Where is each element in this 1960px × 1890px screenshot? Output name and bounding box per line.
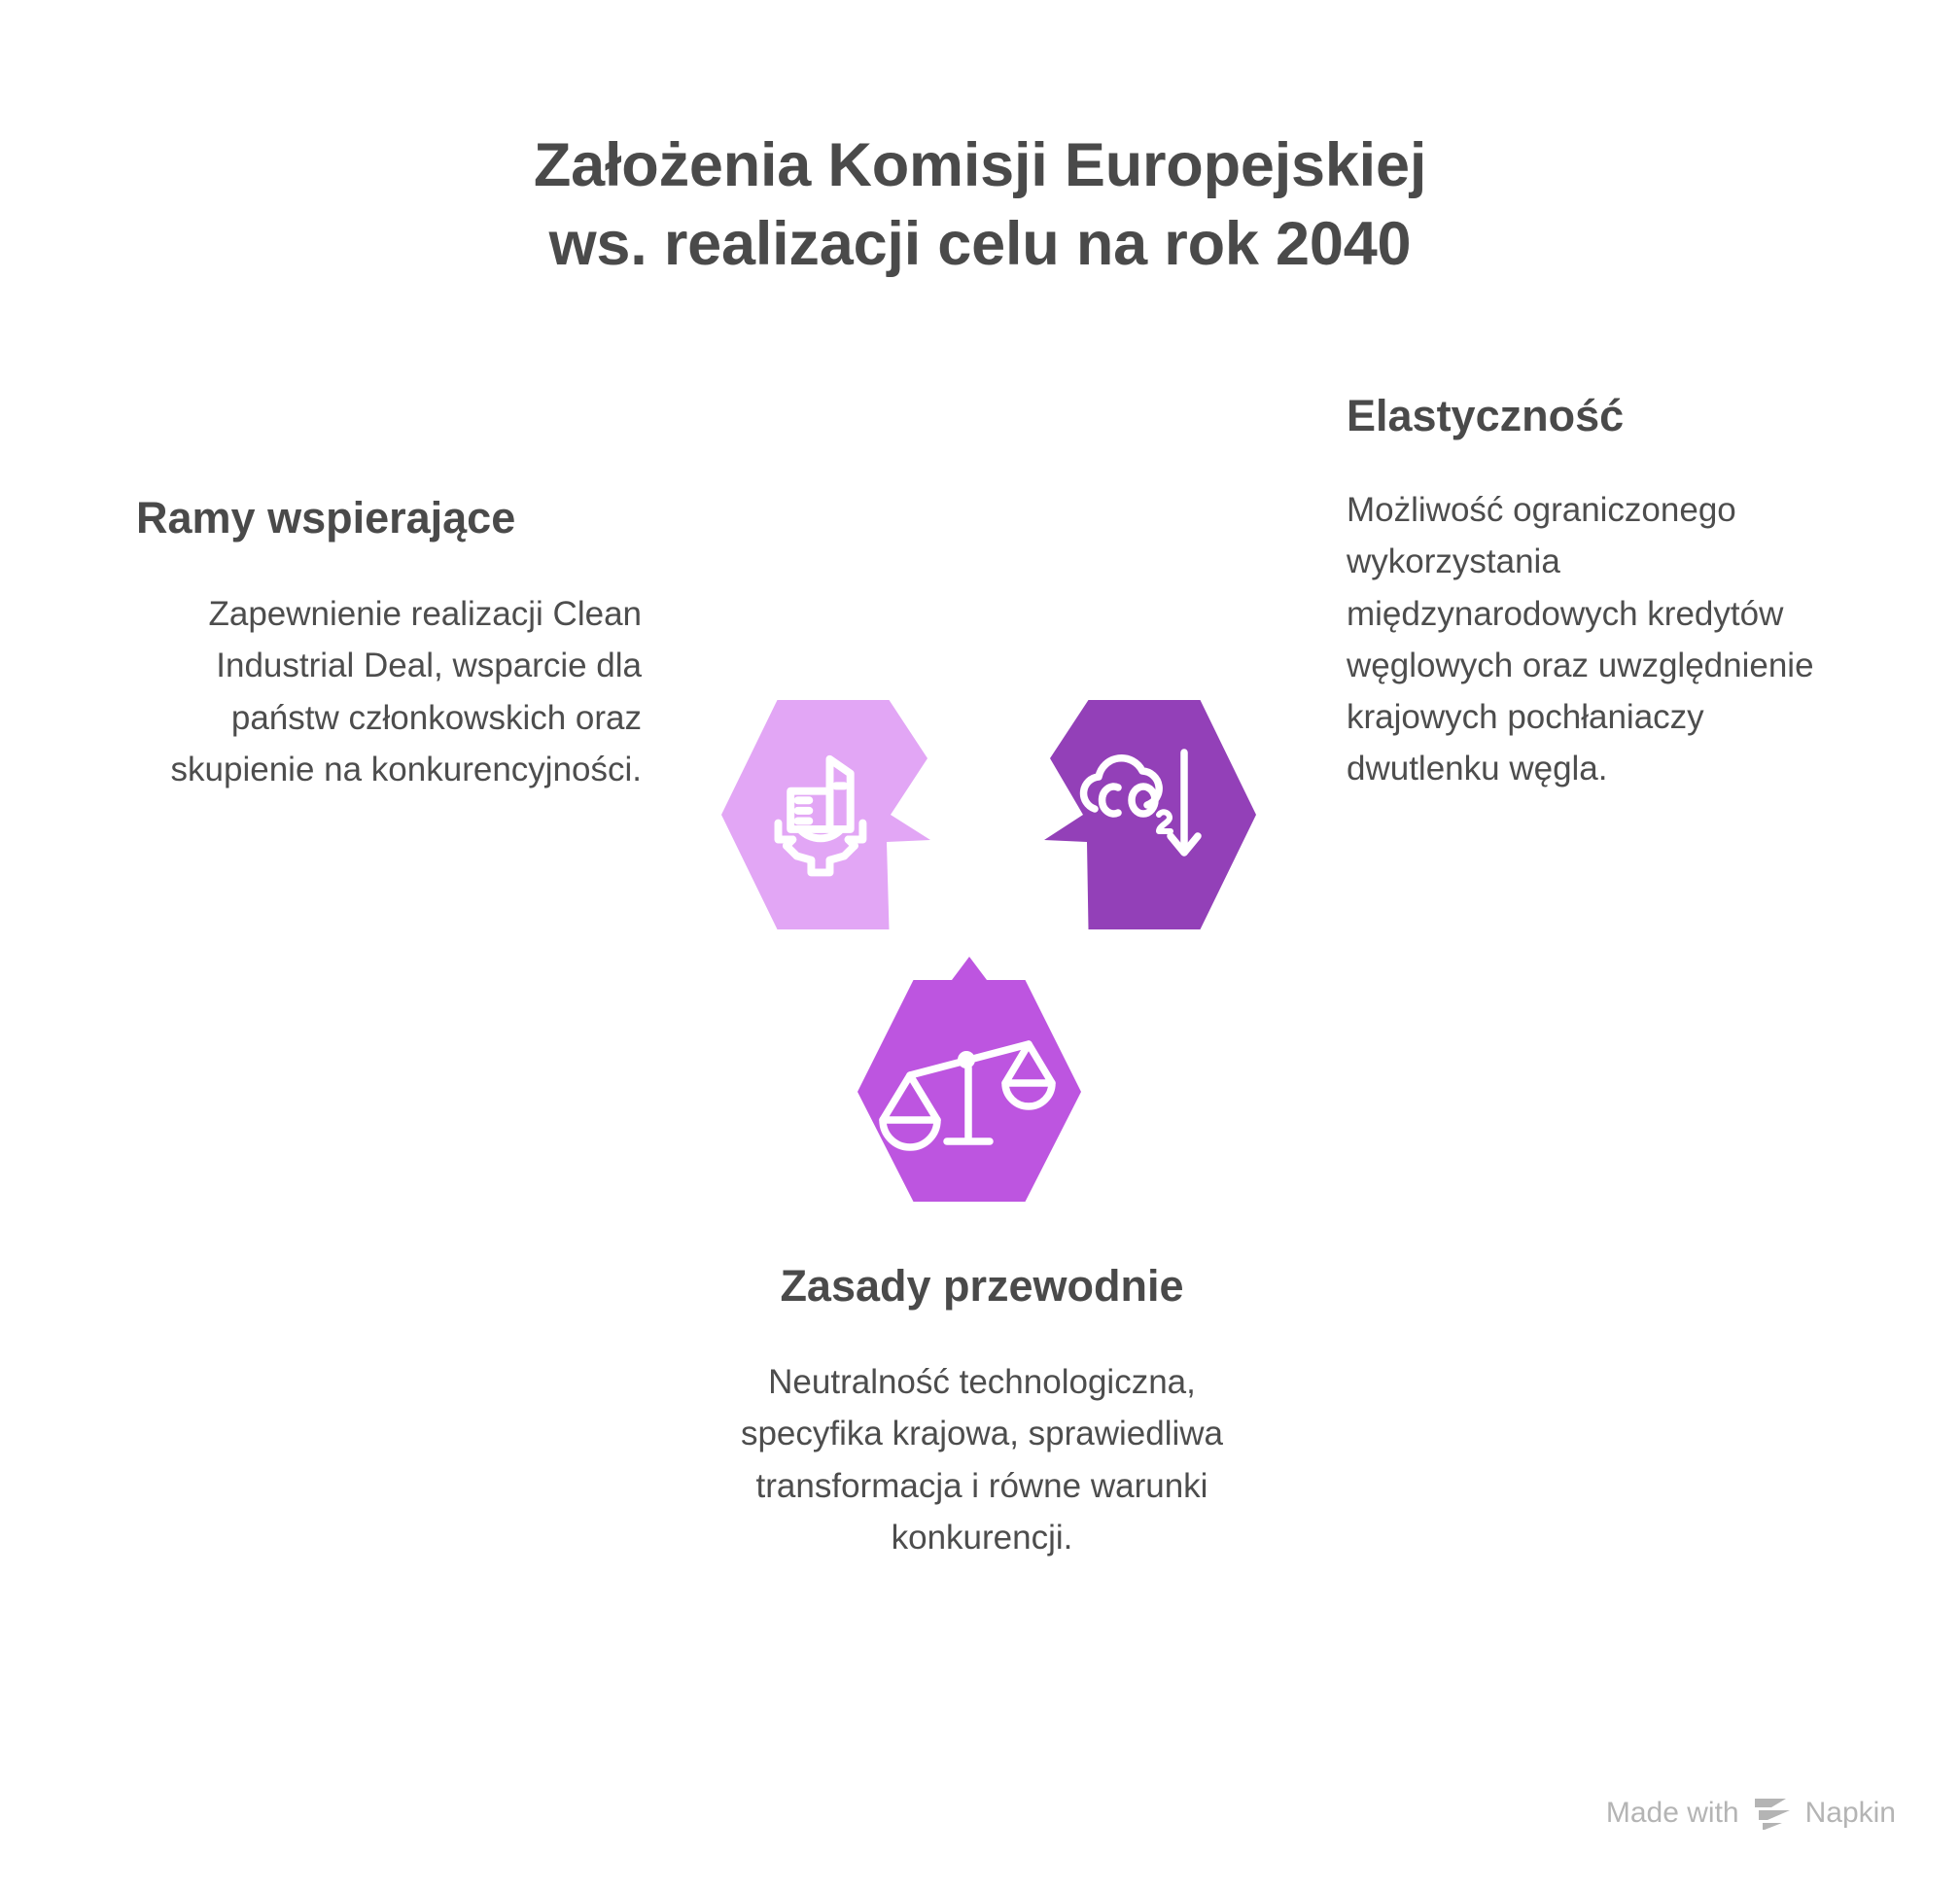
page-title: Założenia Komisji Europejskiej ws. reali…: [0, 126, 1960, 283]
hexagon-shape-2: [1032, 698, 1256, 931]
section-zasady-przewodnie: Zasady przewodnie Neutralność technologi…: [739, 1259, 1225, 1563]
hexagon-ramy-wspierajace: [721, 698, 945, 931]
section-elastycznosc: Elastyczność Możliwość ograniczonego wyk…: [1347, 389, 1842, 794]
hexagon-shape-1: [721, 698, 945, 931]
footer-made-with-label: Made with: [1606, 1797, 1739, 1830]
footer-brand-label: Napkin: [1805, 1797, 1896, 1830]
napkin-logo-icon: [1753, 1797, 1792, 1830]
hexagon-shape-3: [857, 961, 1081, 1204]
section-ramy-wspierajace: Ramy wspierające Zapewnienie realizacji …: [126, 491, 642, 795]
footer-credit: Made with Napkin: [1606, 1797, 1896, 1830]
page-title-line-1: Założenia Komisji Europejskiej: [0, 126, 1960, 205]
section-heading-elastycznosc: Elastyczność: [1347, 389, 1842, 443]
section-body-elastycznosc: Możliwość ograniczonego wykorzystania mi…: [1347, 484, 1842, 794]
section-body-zasady-przewodnie: Neutralność technologiczna, specyfika kr…: [739, 1356, 1225, 1563]
section-heading-zasady-przewodnie: Zasady przewodnie: [739, 1259, 1225, 1313]
hexagon-zasady-przewodnie: [857, 961, 1081, 1204]
section-heading-ramy-wspierajace: Ramy wspierające: [136, 491, 642, 545]
hexagon-path-1: [721, 700, 930, 929]
hexagon-elastycznosc: [1032, 698, 1256, 931]
page-title-line-2: ws. realizacji celu na rok 2040: [0, 205, 1960, 284]
section-body-ramy-wspierajace: Zapewnienie realizacji Clean Industrial …: [126, 588, 642, 795]
